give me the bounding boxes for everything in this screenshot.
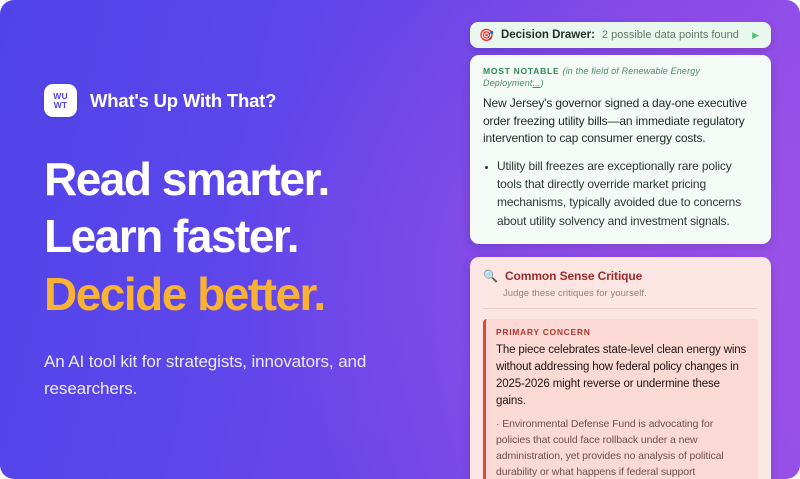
divider [483, 308, 758, 309]
hero-section: WU WT What's Up With That? Read smarter.… [44, 84, 444, 403]
decision-drawer-title: Decision Drawer: [501, 29, 595, 41]
critique-header: 🔍 Common Sense Critique [483, 269, 758, 283]
most-notable-field-suffix: ) [540, 78, 543, 88]
decision-drawer-bar[interactable]: 🎯 Decision Drawer: 2 possible data point… [470, 22, 771, 48]
logo-line-2: WT [54, 101, 68, 110]
primary-concern-body: The piece celebrates state-level clean e… [496, 342, 748, 410]
primary-concern-note: · Environmental Defense Fund is advocati… [496, 417, 748, 479]
primary-concern-label: PRIMARY CONCERN [496, 327, 748, 337]
headline-line-2: Learn faster. [44, 208, 444, 265]
most-notable-card: MOST NOTABLE (in the field of Renewable … [470, 55, 771, 244]
critique-subtitle: Judge these critiques for yourself. [503, 288, 758, 299]
page-title: Read smarter. Learn faster. Decide bette… [44, 151, 444, 323]
brand-name: What's Up With That? [90, 90, 276, 112]
insights-panel: 🎯 Decision Drawer: 2 possible data point… [470, 22, 771, 479]
common-sense-critique-card: 🔍 Common Sense Critique Judge these crit… [470, 257, 771, 479]
app-logo-icon[interactable]: WU WT [44, 84, 77, 117]
app-window: WU WT What's Up With That? Read smarter.… [0, 0, 800, 479]
headline-line-3: Decide better. [44, 266, 444, 323]
most-notable-bullet-list: Utility bill freezes are exceptionally r… [483, 157, 758, 230]
brand-row: WU WT What's Up With That? [44, 84, 444, 117]
magnifier-icon: 🔍 [483, 270, 498, 282]
hero-subtitle: An AI tool kit for strategists, innovato… [44, 349, 399, 403]
critique-title: Common Sense Critique [505, 269, 642, 283]
primary-concern-block[interactable]: PRIMARY CONCERN The piece celebrates sta… [483, 319, 758, 479]
hero-subtitle-line-1: An AI tool kit for strategists, innovato… [44, 352, 334, 371]
chevron-right-icon[interactable]: ▶ [752, 31, 761, 40]
most-notable-label-text: MOST NOTABLE [483, 66, 559, 76]
most-notable-label: MOST NOTABLE (in the field of Renewable … [483, 66, 758, 89]
headline-line-1: Read smarter. [44, 151, 444, 208]
most-notable-body: New Jersey's governor signed a day-one e… [483, 95, 758, 148]
decision-drawer-status: 2 possible data points found [602, 29, 745, 41]
dartboard-icon: 🎯 [479, 29, 494, 41]
list-item: Utility bill freezes are exceptionally r… [497, 157, 758, 230]
